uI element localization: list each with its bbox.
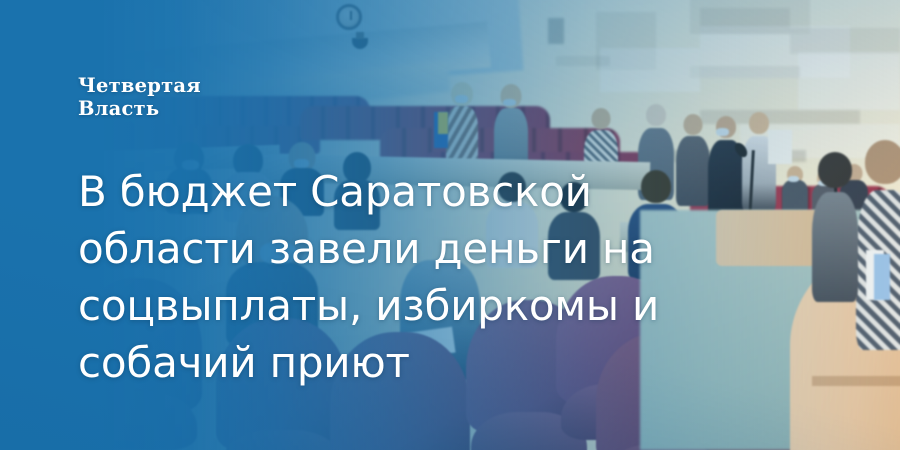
headline-line: В бюджет Саратовской <box>78 163 678 220</box>
headline-line: области завели деньги на <box>78 220 678 277</box>
page-title: В бюджет Саратовской области завели день… <box>78 163 678 391</box>
headline-line: собачий приют <box>78 334 678 391</box>
news-share-card: Четвертая Власть В бюджет Саратовской об… <box>0 0 900 450</box>
headline-line: соцвыплаты, избиркомы и <box>78 277 678 334</box>
brand-logo[interactable]: Четвертая Власть <box>78 74 201 120</box>
